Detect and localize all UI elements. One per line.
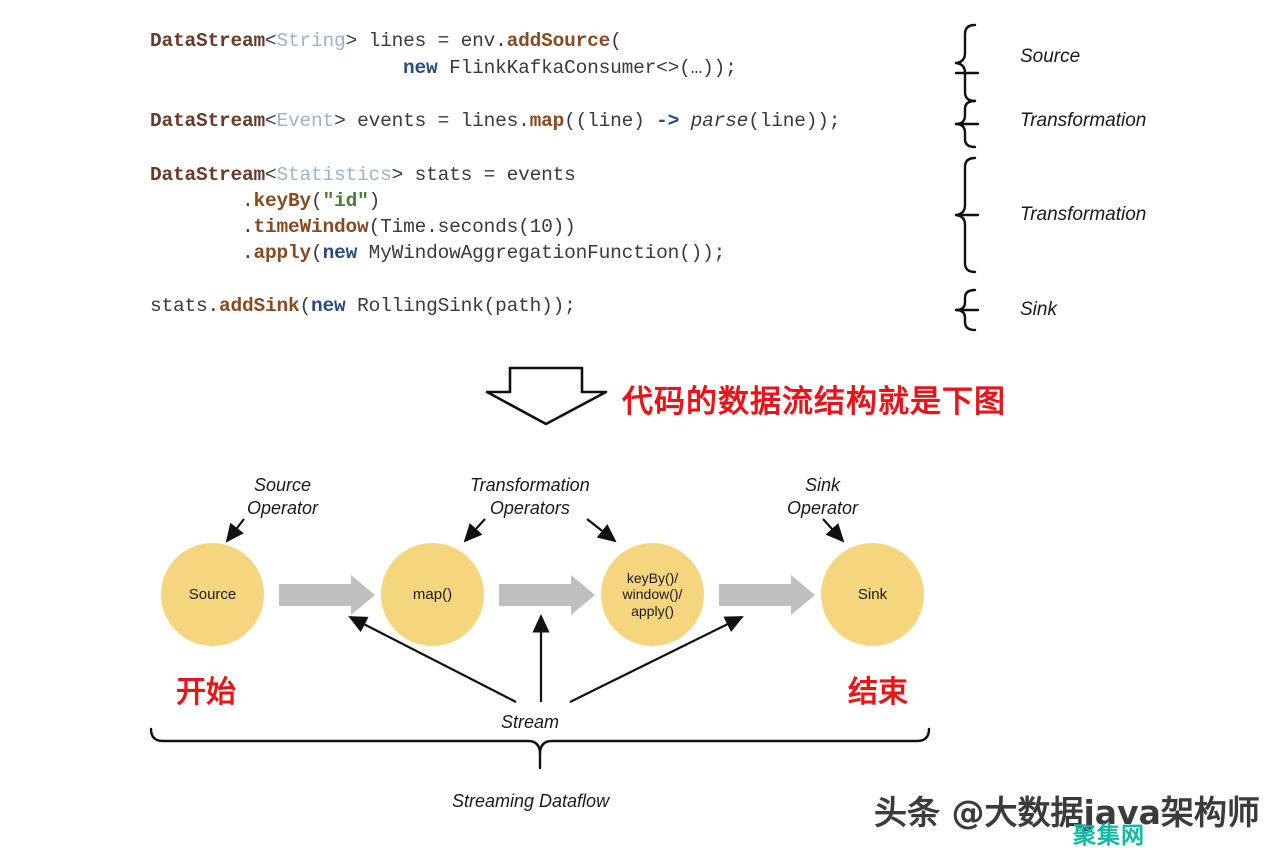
graph-node-map[interactable]: map() (381, 543, 484, 646)
brace-label-transformation-2: Transformation (1020, 204, 1146, 226)
code-line: DataStream<Statistics> stats = events (150, 164, 576, 186)
code-token: -> (656, 110, 679, 132)
code-token: addSink (219, 295, 300, 317)
graph-node-keyby[interactable]: keyBy()/ window()/ apply() (601, 543, 704, 646)
code-line: stats.addSink(new RollingSink(path)); (150, 295, 576, 317)
code-token: addSource (507, 30, 611, 52)
code-token: timeWindow (254, 216, 369, 238)
watermark-logo: 聚集网 (1073, 816, 1145, 850)
stream-arrow-1 (279, 575, 375, 615)
code-token: keyBy (254, 190, 312, 212)
graph-node-source[interactable]: Source (161, 543, 264, 646)
code-token: < (265, 30, 277, 52)
code-token: > stats = events (392, 164, 576, 186)
code-token: new (323, 242, 358, 264)
end-label: 结束 (848, 667, 908, 711)
code-token: MyWindowAggregationFunction()); (357, 242, 725, 264)
diagram-canvas: DataStream<String> lines = env.addSource… (0, 0, 1269, 849)
code-token: RollingSink(path)); (346, 295, 576, 317)
graph-node-source-label: Source (189, 586, 237, 603)
code-token: DataStream (150, 110, 265, 132)
stream-arrow-3 (719, 575, 815, 615)
code-token: apply (254, 242, 312, 264)
watermark-text: 头条 @大数据java架构师 (874, 786, 1260, 834)
code-token: new (311, 295, 346, 317)
code-token: < (265, 110, 277, 132)
code-token: ) (369, 190, 381, 212)
code-token: map (530, 110, 565, 132)
code-token: Event (277, 110, 335, 132)
code-token: ( (300, 295, 312, 317)
code-token: Statistics (277, 164, 392, 186)
code-token: (Time.seconds(10)) (369, 216, 576, 238)
code-token: DataStream (150, 164, 265, 186)
stream-arrow-2 (499, 575, 595, 615)
code-token: > events = lines. (334, 110, 530, 132)
code-token: FlinkKafkaConsumer<>(…)); (438, 57, 737, 79)
code-token: . (150, 190, 254, 212)
code-line: .apply(new MyWindowAggregationFunction()… (150, 242, 725, 264)
code-line: .keyBy("id") (150, 190, 380, 212)
code-token: ( (311, 190, 323, 212)
graph-node-sink[interactable]: Sink (821, 543, 924, 646)
code-token: ((line) (564, 110, 656, 132)
graph-node-keyby-label: keyBy()/ window()/ apply() (623, 570, 683, 618)
stream-label: Stream (501, 712, 559, 733)
code-token: < (265, 164, 277, 186)
operator-label-source: Source Operator (247, 474, 318, 519)
code-token: stats. (150, 295, 219, 317)
code-token: ( (311, 242, 323, 264)
start-label: 开始 (176, 667, 236, 711)
code-line: DataStream<Event> events = lines.map((li… (150, 110, 840, 132)
chinese-caption: 代码的数据流结构就是下图 (622, 376, 1006, 421)
code-token: . (150, 216, 254, 238)
code-line: new FlinkKafkaConsumer<>(…)); (150, 57, 737, 79)
brace-label-source: Source (1020, 46, 1080, 68)
graph-node-map-label: map() (413, 586, 452, 603)
code-line: .timeWindow(Time.seconds(10)) (150, 216, 576, 238)
graph-node-sink-label: Sink (858, 586, 887, 603)
pointer-arrow-transformation-right (587, 519, 615, 541)
streaming-dataflow-label: Streaming Dataflow (452, 791, 609, 812)
code-token (679, 110, 691, 132)
pointer-arrow-source (227, 519, 244, 541)
code-token: > lines = env. (346, 30, 507, 52)
code-token: ( (610, 30, 622, 52)
brace-label-transformation-1: Transformation (1020, 110, 1146, 132)
operator-label-transformation: Transformation Operators (470, 474, 590, 519)
code-token: new (403, 57, 438, 79)
brace-label-sink: Sink (1020, 299, 1057, 321)
code-token: parse (691, 110, 749, 132)
pointer-arrow-sink (823, 519, 843, 541)
code-token: String (277, 30, 346, 52)
code-token: . (150, 242, 254, 264)
code-token: (line)); (748, 110, 840, 132)
code-token: "id" (323, 190, 369, 212)
code-token (150, 57, 403, 79)
code-token: DataStream (150, 30, 265, 52)
code-line: DataStream<String> lines = env.addSource… (150, 30, 622, 52)
operator-label-sink: Sink Operator (787, 474, 858, 519)
pointer-arrow-transformation-left (465, 519, 485, 541)
